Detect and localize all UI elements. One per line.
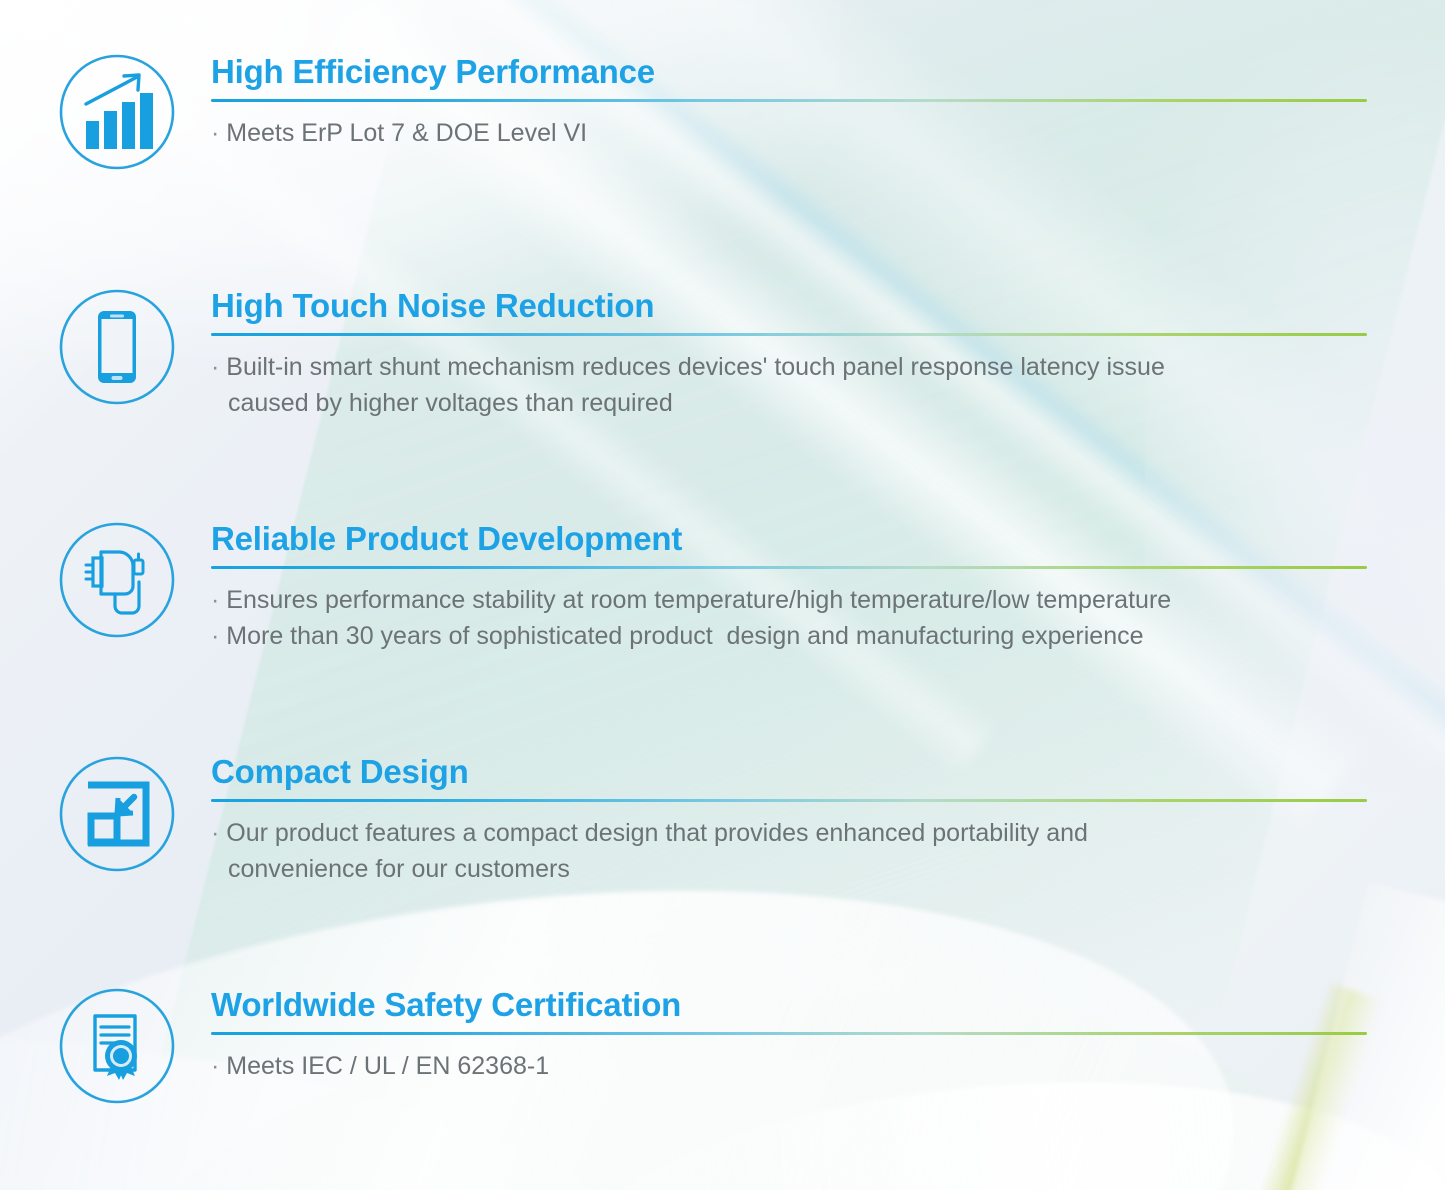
feature-text-block: High Touch Noise Reduction · Built-in sm… [211, 288, 1371, 421]
bullet-text: Built-in smart shunt mechanism reduces d… [226, 353, 1165, 381]
compact-resize-icon [55, 752, 179, 876]
feature-text-block: Reliable Product Development · Ensures p… [211, 521, 1371, 654]
bullet-text: More than 30 years of sophisticated prod… [226, 622, 1143, 650]
feature-bullet-line: · Our product features a compact design … [211, 815, 1371, 851]
feature-bullet-list: · Our product features a compact design … [211, 815, 1371, 887]
feature-text-block: High Efficiency Performance · Meets ErP … [211, 54, 1371, 151]
feature-divider [211, 799, 1367, 802]
feature-bullet-line: · More than 30 years of sophisticated pr… [211, 618, 1371, 654]
bullet-glyph: · [211, 622, 226, 650]
bullet-glyph: · [211, 1052, 226, 1080]
bullet-text: Meets ErP Lot 7 & DOE Level VI [226, 119, 587, 147]
bullet-glyph: · [211, 119, 226, 147]
feature-bullet-line: · Ensures performance stability at room … [211, 582, 1371, 618]
power-adapter-icon [55, 518, 179, 642]
feature-bullet-line: caused by higher voltages than required [211, 385, 1371, 421]
feature-divider [211, 1032, 1367, 1035]
bar-chart-growth-icon [55, 50, 179, 174]
feature-divider [211, 99, 1367, 102]
bullet-glyph: · [211, 819, 226, 847]
bullet-text: Ensures performance stability at room te… [226, 586, 1171, 614]
feature-bullet-list: · Meets ErP Lot 7 & DOE Level VI [211, 115, 1371, 151]
bullet-glyph: · [211, 353, 226, 381]
feature-title: Compact Design [211, 754, 1371, 790]
feature-title: Reliable Product Development [211, 521, 1371, 557]
feature-bullet-line: convenience for our customers [211, 851, 1371, 887]
feature-divider [211, 566, 1367, 569]
bullet-text: convenience for our customers [228, 855, 570, 883]
feature-bullet-list: · Built-in smart shunt mechanism reduces… [211, 349, 1371, 421]
feature-bullet-line: · Built-in smart shunt mechanism reduces… [211, 349, 1371, 385]
feature-bullet-line: · Meets IEC / UL / EN 62368-1 [211, 1048, 1371, 1084]
bullet-text: Our product features a compact design th… [226, 819, 1088, 847]
feature-title: High Touch Noise Reduction [211, 288, 1371, 324]
feature-title: High Efficiency Performance [211, 54, 1371, 90]
features-container: High Efficiency Performance · Meets ErP … [0, 0, 1445, 1190]
feature-text-block: Compact Design · Our product features a … [211, 754, 1371, 887]
smartphone-icon [55, 285, 179, 409]
feature-bullet-line: · Meets ErP Lot 7 & DOE Level VI [211, 115, 1371, 151]
bullet-text: Meets IEC / UL / EN 62368-1 [226, 1052, 549, 1080]
bullet-glyph: · [211, 586, 226, 614]
feature-title: Worldwide Safety Certification [211, 987, 1371, 1023]
certificate-award-icon [55, 984, 179, 1108]
feature-list-page: High Efficiency Performance · Meets ErP … [0, 0, 1445, 1190]
feature-bullet-list: · Meets IEC / UL / EN 62368-1 [211, 1048, 1371, 1084]
feature-bullet-list: · Ensures performance stability at room … [211, 582, 1371, 654]
feature-divider [211, 333, 1367, 336]
feature-text-block: Worldwide Safety Certification · Meets I… [211, 987, 1371, 1084]
bullet-text: caused by higher voltages than required [228, 389, 673, 417]
